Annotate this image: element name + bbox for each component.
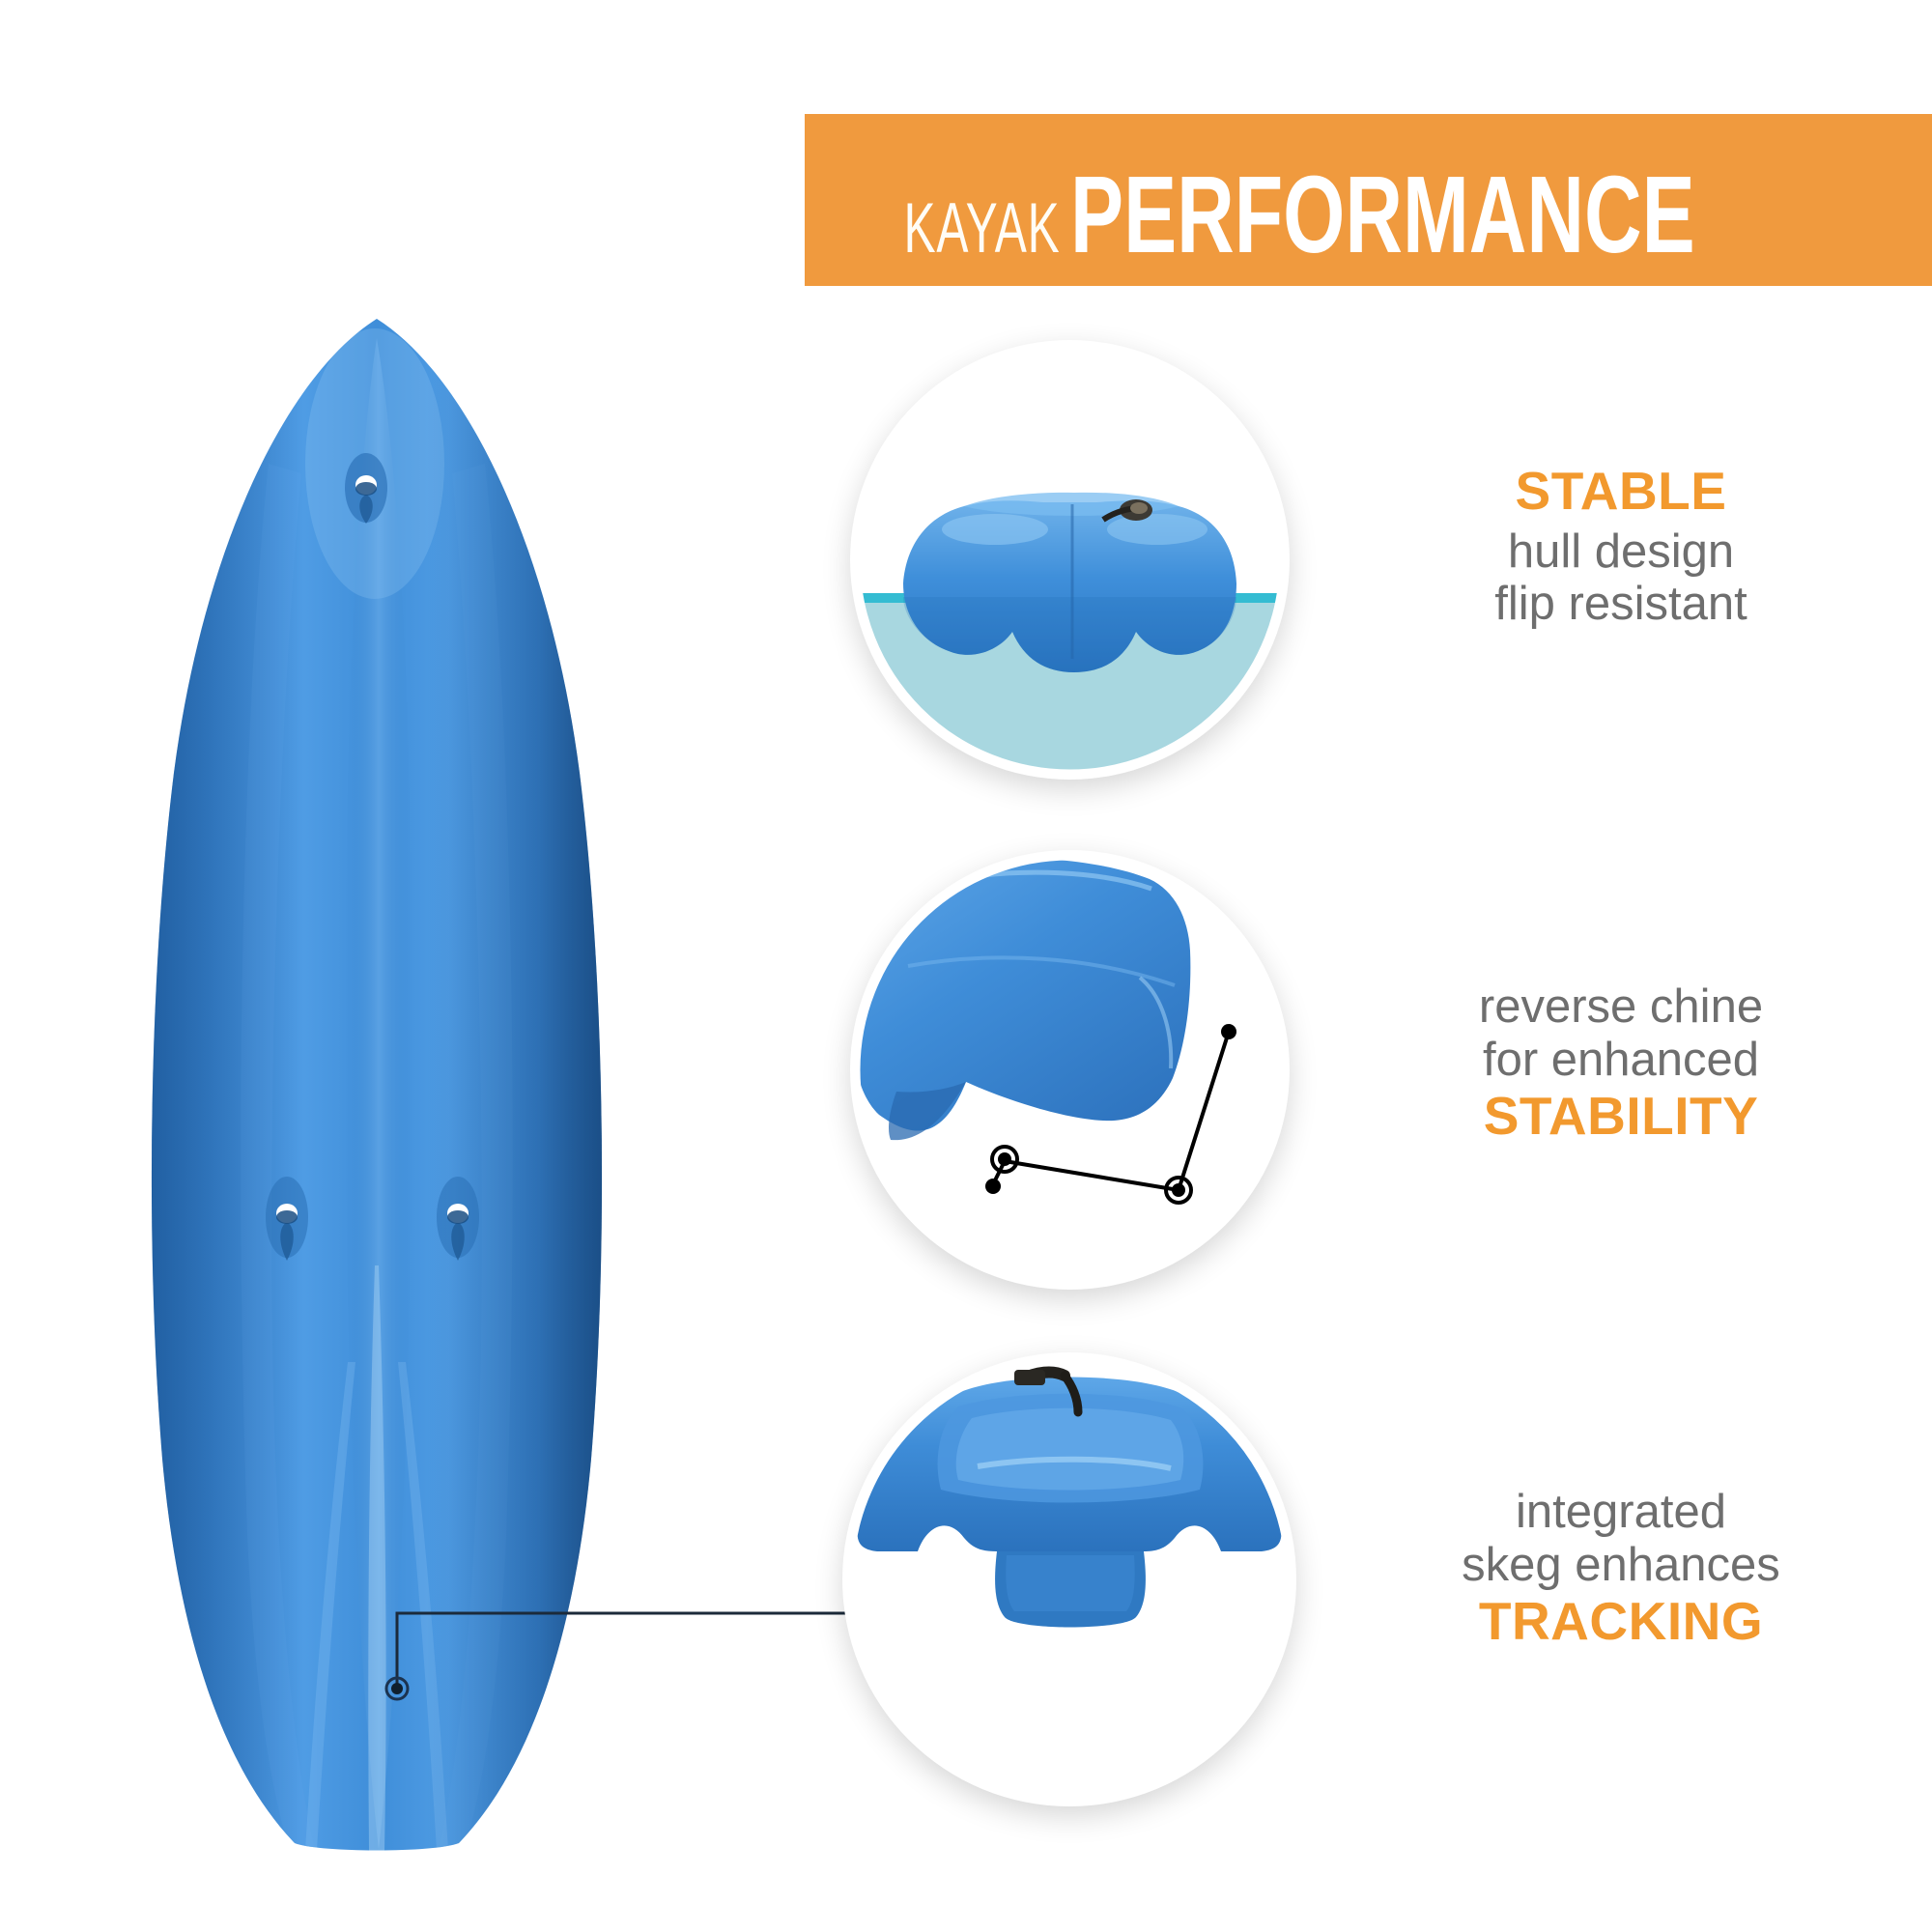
integrated-skeg-illustration [842,1352,1296,1806]
deck-recess-left [942,514,1048,545]
title-word-kayak: KAYAK [904,188,1061,270]
detail-circle-stable [850,340,1290,780]
chine-point-left-dot [998,1152,1011,1166]
chine-point-right-dot [1172,1183,1185,1197]
callout-stable-line2: flip resistant [1418,578,1824,631]
chine-point-top [1221,1024,1236,1039]
reverse-chine-illustration [850,850,1290,1290]
title-word-performance: PERFORMANCE [1070,153,1695,278]
skeg-fin-face [1006,1555,1134,1611]
callout-chine: reverse chine for enhanced STABILITY [1418,980,1824,1146]
callout-tracking-line2: skeg enhances [1418,1539,1824,1592]
detail-circle-skeg [842,1352,1296,1806]
hull-shade-right [126,319,628,1855]
infographic-canvas: KAYAK PERFORMANCE [0,0,1932,1932]
kayak-hull-image [126,319,628,1855]
chine-point-bottom [985,1179,1001,1194]
page-title: KAYAK PERFORMANCE [865,153,1797,278]
kayak-hull-illustration [126,319,628,1855]
callout-stable-heading: STABLE [1418,462,1824,522]
callout-chine-heading: STABILITY [1418,1087,1824,1147]
stern-deck-recess [956,1408,1184,1491]
deck-recess-right [1107,514,1207,545]
callout-tracking-line1: integrated [1418,1486,1824,1539]
callout-tracking: integrated skeg enhances TRACKING [1418,1486,1824,1651]
hull-waterline-illustration [850,340,1290,780]
detail-circle-chine [850,850,1290,1290]
hull-chine-surface [852,858,1190,1131]
callout-chine-line2: for enhanced [1418,1034,1824,1087]
callout-stable-line1: hull design [1418,526,1824,579]
callout-chine-line1: reverse chine [1418,980,1824,1034]
header-banner: KAYAK PERFORMANCE [805,114,1932,286]
callout-tracking-heading: TRACKING [1418,1592,1824,1652]
callout-stable: STABLE hull design flip resistant [1418,462,1824,631]
